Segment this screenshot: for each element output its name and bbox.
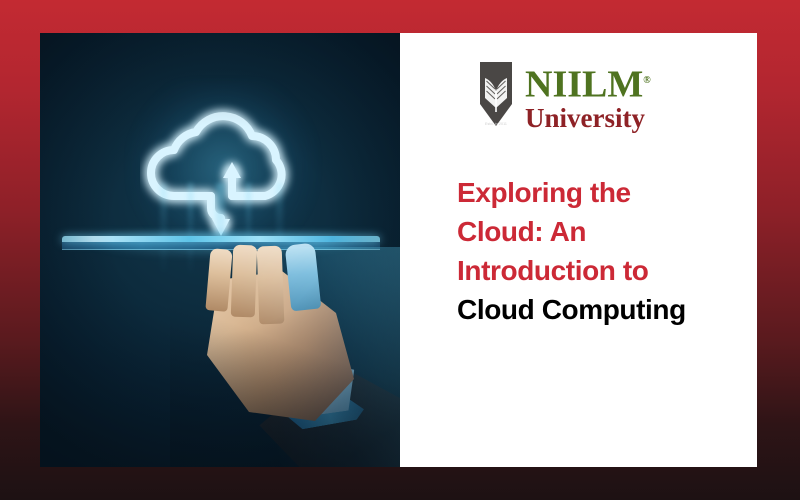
logo-name-secondary: University (525, 104, 651, 132)
cloud-sync-icon (140, 88, 310, 248)
headline-line-3: Introduction to (457, 251, 739, 290)
headline-line-2: Cloud: An (457, 212, 739, 251)
hero-image-panel (40, 33, 400, 467)
text-panel: Estd. in 2011 NIILM® University Explorin… (400, 33, 757, 467)
hand-holding-tablet (170, 247, 400, 467)
page-title: Exploring the Cloud: An Introduction to … (457, 173, 739, 329)
headline-line-1: Exploring the (457, 173, 739, 212)
logo-name-primary-text: NIILM (525, 64, 643, 106)
logo-established-text: Estd. in 2011 (479, 122, 513, 126)
niilm-shield-emblem: Estd. in 2011 (478, 60, 514, 128)
banner-content-frame: Estd. in 2011 NIILM® University Explorin… (40, 33, 757, 467)
niilm-university-logo[interactable]: Estd. in 2011 NIILM® University (478, 60, 651, 132)
logo-name-primary: NIILM® (525, 63, 651, 103)
headline-line-4: Cloud Computing (457, 290, 739, 329)
registered-trademark-icon: ® (643, 75, 650, 86)
